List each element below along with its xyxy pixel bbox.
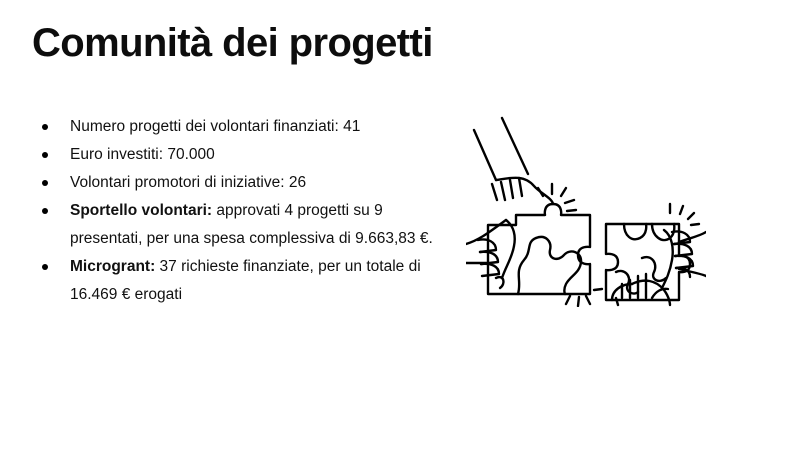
bullet-list: Numero progetti dei volontari finanziati… <box>36 113 456 309</box>
bullet-lead: Microgrant: <box>70 258 155 275</box>
list-item: Euro investiti: 70.000 <box>36 141 456 169</box>
bullet-text: Numero progetti dei volontari finanziati… <box>70 118 360 135</box>
list-item: Volontari promotori di iniziative: 26 <box>36 169 456 197</box>
bullet-lead: Sportello volontari: <box>70 202 212 219</box>
bullet-text: Volontari promotori di iniziative: 26 <box>70 174 306 191</box>
puzzle-hands-illustration <box>466 112 706 307</box>
bullet-dot-icon <box>42 264 48 270</box>
bullet-dot-icon <box>42 152 48 158</box>
bullet-text: Euro investiti: 70.000 <box>70 146 215 163</box>
list-item: Numero progetti dei volontari finanziati… <box>36 113 456 141</box>
list-item: Sportello volontari: approvati 4 progett… <box>36 197 456 253</box>
page-title: Comunità dei progetti <box>32 22 433 64</box>
bullet-dot-icon <box>42 180 48 186</box>
slide-canvas: Comunità dei progetti Numero progetti de… <box>0 0 800 450</box>
bullet-dot-icon <box>42 208 48 214</box>
bullet-dot-icon <box>42 124 48 130</box>
list-item: Microgrant: 37 richieste finanziate, per… <box>36 253 456 309</box>
